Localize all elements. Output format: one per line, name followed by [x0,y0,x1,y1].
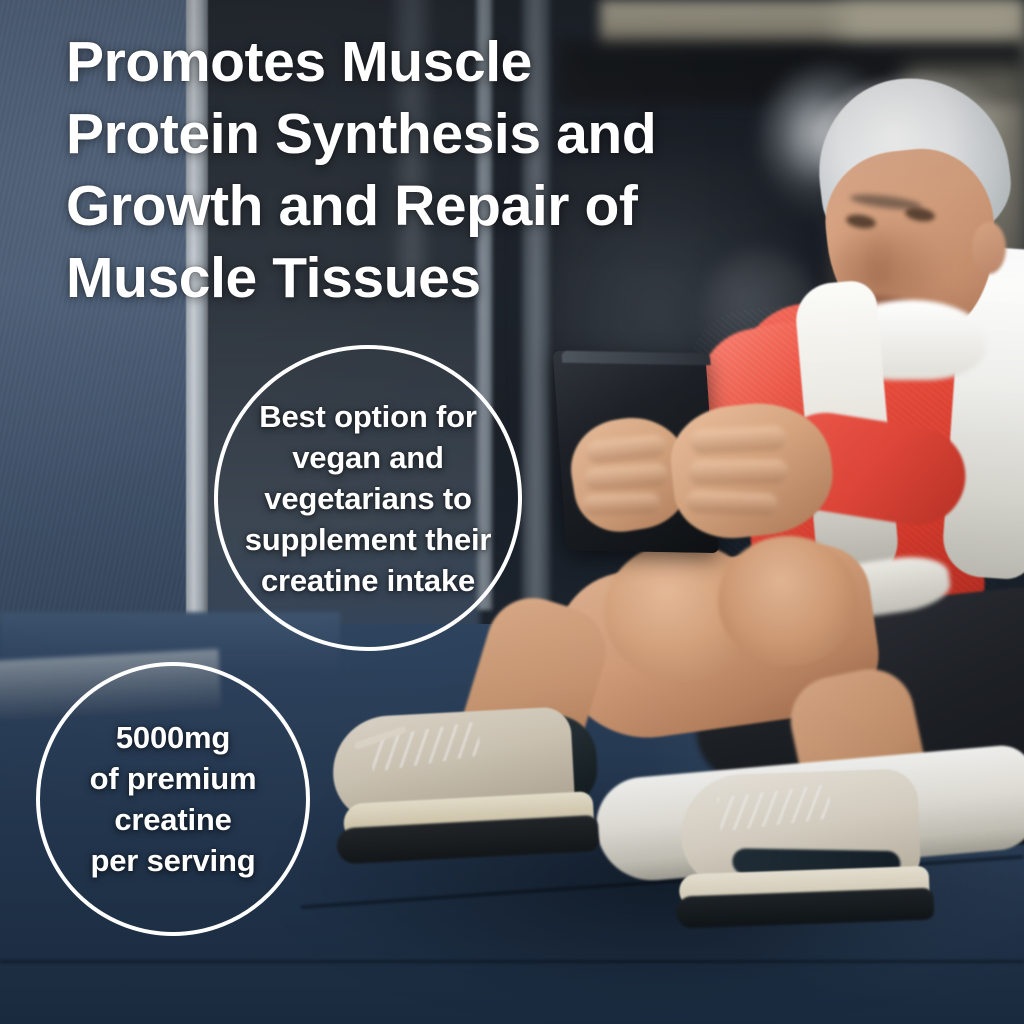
finger [689,426,786,455]
badge-vegan-line-1: Best option for [245,396,492,437]
badge-dosage-line-1: 5000mg [90,717,257,758]
knee-right [718,536,858,666]
badge-vegan-line-2: vegan and [245,437,492,478]
badge-dosage-text: 5000mg of premium creatine per serving [80,717,267,881]
headline-line-1: Promotes Muscle [66,26,706,98]
headline-line-2: Protein Synthesis and [66,98,706,170]
finger [582,493,661,516]
shoe-right [669,767,944,936]
badge-vegan-line-5: creatine intake [245,560,492,601]
headline-line-3: Growth and Repair of [66,170,706,242]
finger [686,490,779,515]
badge-vegan-line-3: vegetarians to [245,478,492,519]
badge-vegan-text: Best option for vegan and vegetarians to… [235,396,502,601]
headline-line-4: Muscle Tissues [66,242,706,314]
badge-dosage-line-2: of premium [90,758,257,799]
headline: Promotes Muscle Protein Synthesis and Gr… [66,26,706,314]
badge-vegan-option: Best option for vegan and vegetarians to… [214,345,522,651]
nose [866,230,892,286]
badge-dosage: 5000mg of premium creatine per serving [36,662,310,936]
finger [688,459,788,485]
badge-dosage-line-4: per serving [90,840,257,881]
shoe-left [316,705,603,869]
ear [972,222,1006,274]
badge-dosage-line-3: creatine [90,799,257,840]
badge-vegan-line-4: supplement their [245,519,492,560]
product-lifestyle-banner: Promotes Muscle Protein Synthesis and Gr… [0,0,1024,1024]
